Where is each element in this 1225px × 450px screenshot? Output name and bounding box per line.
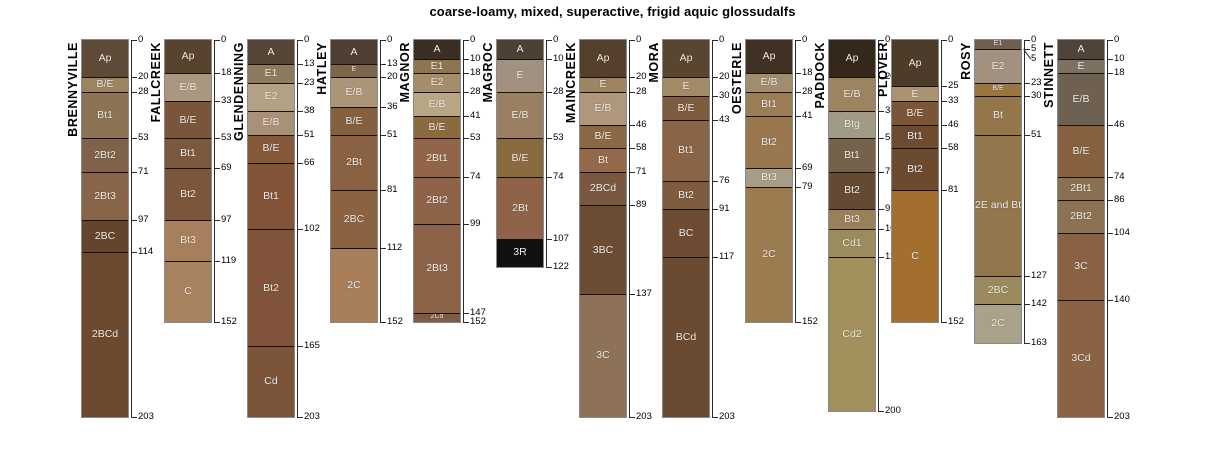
depth-tick-label: 203	[304, 412, 320, 421]
depth-tick-label: 114	[138, 247, 153, 256]
depth-tick-label: 23	[1031, 78, 1042, 87]
depth-tick	[297, 229, 303, 230]
soil-horizon: 2C	[331, 248, 377, 322]
soil-horizon: B/E	[892, 101, 938, 125]
horizon-label: Bt	[975, 109, 1021, 121]
depth-tick	[712, 417, 718, 418]
horizon-label: B/E	[892, 107, 938, 119]
depth-tick	[214, 322, 220, 323]
soil-horizon: E/B	[331, 77, 377, 107]
depth-tick	[941, 86, 947, 87]
horizon-label: B/E	[248, 142, 294, 154]
horizon-label: C	[165, 285, 211, 297]
depth-tick	[214, 101, 220, 102]
depth-tick	[1024, 83, 1030, 84]
depth-tick-label: 46	[1114, 120, 1125, 129]
soil-horizon: A	[1058, 40, 1104, 59]
horizon-boundary	[82, 92, 128, 93]
soil-horizon: Bt1	[746, 92, 792, 116]
depth-tick-label: 0	[138, 35, 143, 44]
depth-tick	[380, 190, 386, 191]
horizon-boundary	[414, 313, 460, 314]
depth-tick	[1024, 276, 1030, 277]
depth-tick	[629, 40, 635, 41]
depth-axis	[380, 40, 381, 322]
depth-tick	[795, 40, 801, 41]
horizon-boundary	[975, 83, 1021, 84]
horizon-boundary	[331, 64, 377, 65]
horizon-label: Ap	[580, 52, 626, 64]
depth-tick	[380, 322, 386, 323]
soil-horizon: 2Bt2	[414, 177, 460, 223]
depth-tick	[214, 168, 220, 169]
soil-horizon: 2Bt3	[414, 224, 460, 313]
horizon-boundary	[82, 77, 128, 78]
horizon-boundary	[414, 59, 460, 60]
depth-tick-label: 0	[304, 35, 309, 44]
horizon-label: Bt1	[829, 149, 875, 161]
depth-tick-label: 81	[387, 185, 398, 194]
depth-tick-label: 89	[636, 200, 647, 209]
horizon-boundary	[248, 346, 294, 347]
depth-tick-label: 33	[948, 96, 959, 105]
depth-tick-label: 10	[553, 54, 564, 63]
horizon-label: 3R	[497, 246, 543, 258]
horizon-label: A	[1058, 43, 1104, 55]
soil-horizon: Bt3	[165, 220, 211, 261]
horizon-label: 3BC	[580, 244, 626, 256]
horizon-label: 2BCd	[580, 182, 626, 194]
soil-horizon: 3C	[1058, 233, 1104, 300]
horizon-boundary	[829, 138, 875, 139]
horizon-label: B/E	[663, 102, 709, 114]
horizon-boundary	[248, 135, 294, 136]
horizon-label: 2BC	[82, 230, 128, 242]
depth-tick-label: 0	[802, 35, 807, 44]
depth-tick-label: 99	[470, 219, 481, 228]
horizon-boundary	[663, 77, 709, 78]
soil-horizon: B/E	[580, 125, 626, 147]
profile-name-label: MAGNOR	[398, 42, 412, 103]
horizon-label: Bt3	[165, 234, 211, 246]
depth-tick	[878, 209, 884, 210]
horizon-label: A	[497, 43, 543, 55]
depth-tick	[546, 59, 552, 60]
soil-horizon: Ap	[829, 40, 875, 77]
depth-tick-label: 152	[802, 317, 818, 326]
horizon-boundary	[829, 209, 875, 210]
depth-tick-label: 28	[636, 87, 647, 96]
depth-tick	[463, 138, 469, 139]
soil-horizon: C	[892, 190, 938, 322]
depth-tick-label: 20	[719, 72, 730, 81]
depth-tick-label: 30	[719, 91, 730, 100]
depth-axis	[795, 40, 796, 322]
soil-horizon: Btg	[829, 111, 875, 139]
soil-horizon: 2Bt1	[1058, 177, 1104, 199]
horizon-boundary	[248, 64, 294, 65]
depth-tick	[1107, 417, 1113, 418]
horizon-label: Cd	[248, 375, 294, 387]
soil-horizon: Bt3	[746, 168, 792, 187]
soil-horizon: Bt	[975, 96, 1021, 135]
depth-tick-label: 51	[1031, 130, 1042, 139]
depth-tick	[1107, 125, 1113, 126]
soil-horizon: E1	[248, 64, 294, 83]
horizon-label: E/B	[414, 98, 460, 110]
depth-tick-label: 41	[470, 111, 481, 120]
depth-tick	[463, 177, 469, 178]
horizon-boundary	[414, 92, 460, 93]
horizon-boundary	[580, 205, 626, 206]
horizon-boundary	[580, 294, 626, 295]
depth-tick	[941, 40, 947, 41]
depth-tick-label: 71	[138, 167, 149, 176]
depth-tick	[1107, 200, 1113, 201]
horizon-boundary	[248, 83, 294, 84]
soil-horizon: 2Bt	[331, 135, 377, 191]
depth-tick-label: 0	[948, 35, 953, 44]
depth-tick-label: 71	[636, 167, 647, 176]
horizon-label: Bt1	[165, 147, 211, 159]
soil-horizon: 2C	[746, 187, 792, 323]
horizon-label: 2Bt2	[414, 194, 460, 206]
depth-tick	[297, 346, 303, 347]
soil-horizon: 2C	[975, 304, 1021, 343]
horizon-label: B/E	[975, 85, 1021, 92]
soil-horizon: E	[580, 77, 626, 92]
depth-tick	[297, 111, 303, 112]
horizon-boundary	[331, 77, 377, 78]
horizon-boundary	[746, 168, 792, 169]
depth-tick	[629, 148, 635, 149]
horizon-boundary	[82, 138, 128, 139]
depth-tick-label: 81	[948, 185, 959, 194]
horizon-boundary	[892, 190, 938, 191]
horizon-boundary	[82, 252, 128, 253]
depth-tick	[380, 248, 386, 249]
depth-tick-label: 43	[719, 115, 730, 124]
horizon-boundary	[1058, 300, 1104, 301]
depth-tick-label: 0	[553, 35, 558, 44]
depth-tick	[131, 417, 137, 418]
horizon-label: E/B	[165, 81, 211, 93]
horizon-boundary	[414, 177, 460, 178]
depth-tick-label: 122	[553, 262, 569, 271]
depth-tick-label: 104	[1114, 228, 1130, 237]
depth-tick-label: 203	[1114, 412, 1130, 421]
depth-tick-label: 53	[553, 133, 564, 142]
soil-horizon: 2BCd	[82, 252, 128, 417]
horizon-boundary	[580, 125, 626, 126]
depth-tick-label: 20	[636, 72, 647, 81]
horizon-boundary	[165, 138, 211, 139]
depth-tick	[629, 125, 635, 126]
profile-name-label: PADDOCK	[813, 42, 827, 108]
horizon-label: E/B	[580, 102, 626, 114]
horizon-label: 2Bt2	[1058, 210, 1104, 222]
horizon-boundary	[165, 168, 211, 169]
depth-tick	[380, 64, 386, 65]
horizon-boundary	[829, 111, 875, 112]
horizon-label: Cd2	[829, 328, 875, 340]
depth-tick-label: 0	[636, 35, 641, 44]
depth-axis	[546, 40, 547, 267]
horizon-boundary	[663, 257, 709, 258]
horizon-boundary	[829, 229, 875, 230]
depth-tick	[131, 92, 137, 93]
depth-tick-label: 18	[1114, 68, 1125, 77]
depth-tick-label: 28	[802, 87, 813, 96]
depth-tick-label: 117	[719, 252, 734, 261]
horizon-label: 2Bt3	[82, 190, 128, 202]
soil-horizon: E/B	[414, 92, 460, 116]
depth-tick	[941, 190, 947, 191]
depth-axis	[131, 40, 132, 417]
depth-tick-label: 28	[553, 87, 564, 96]
profile-name-label: HATLEY	[315, 42, 329, 95]
soil-horizon: Ap	[82, 40, 128, 77]
horizon-boundary	[331, 248, 377, 249]
horizon-label: E/B	[746, 76, 792, 88]
horizon-label: Bt2	[248, 282, 294, 294]
soil-horizon: 2Bt1	[414, 138, 460, 177]
soil-horizon: E2	[414, 73, 460, 92]
soil-horizon: E	[331, 64, 377, 77]
horizon-label: E	[1058, 60, 1104, 72]
soil-horizon: E	[1058, 59, 1104, 74]
soil-horizon: A	[331, 40, 377, 64]
horizon-boundary	[1058, 59, 1104, 60]
horizon-label: Ap	[892, 57, 938, 69]
depth-tick-label: 58	[948, 143, 959, 152]
horizon-boundary	[82, 172, 128, 173]
depth-tick	[712, 257, 718, 258]
depth-tick	[1024, 343, 1030, 344]
depth-tick	[546, 92, 552, 93]
depth-tick-label: 152	[470, 317, 486, 326]
horizon-label: Bt1	[82, 109, 128, 121]
depth-tick-label: 97	[221, 215, 232, 224]
horizon-label: E2	[975, 60, 1021, 72]
soil-horizon: E/B	[1058, 73, 1104, 125]
horizon-label: Bt1	[248, 190, 294, 202]
depth-tick-label: 23	[304, 78, 315, 87]
soil-horizon: 3C	[580, 294, 626, 417]
depth-tick	[297, 64, 303, 65]
horizon-label: A	[248, 46, 294, 58]
depth-tick-label: 10	[470, 54, 481, 63]
profile-column: E1E2B/EBt2E and Bt2BC2C	[974, 39, 1022, 344]
soil-horizon: Cd	[248, 346, 294, 417]
depth-tick	[941, 148, 947, 149]
horizon-label: B/E	[497, 152, 543, 164]
depth-tick-label: 152	[221, 317, 237, 326]
depth-tick-label: 53	[138, 133, 149, 142]
horizon-boundary	[975, 276, 1021, 277]
depth-tick-label: 97	[138, 215, 149, 224]
depth-tick	[463, 92, 469, 93]
soil-horizon: B/E	[414, 116, 460, 138]
depth-tick-label: 107	[553, 234, 569, 243]
depth-tick	[463, 40, 469, 41]
horizon-boundary	[663, 181, 709, 182]
depth-tick	[380, 77, 386, 78]
horizon-boundary	[331, 107, 377, 108]
horizon-label: Bt2	[165, 188, 211, 200]
soil-horizon: 2E and Bt	[975, 135, 1021, 276]
horizon-boundary	[165, 73, 211, 74]
horizon-boundary	[746, 92, 792, 93]
horizon-label: A	[331, 46, 377, 58]
depth-tick-label: 163	[1031, 338, 1047, 347]
depth-tick-label: 76	[719, 176, 730, 185]
depth-tick-label: 127	[1031, 271, 1047, 280]
depth-tick-label: 0	[1114, 35, 1119, 44]
soil-horizon: Bt1	[82, 92, 128, 138]
profile-name-label: BRENNYVILLE	[66, 42, 80, 137]
horizon-label: Bt2	[829, 184, 875, 196]
horizon-boundary	[892, 101, 938, 102]
depth-axis	[629, 40, 630, 417]
depth-tick	[629, 205, 635, 206]
depth-tick	[131, 40, 137, 41]
depth-tick	[214, 138, 220, 139]
horizon-boundary	[497, 177, 543, 178]
horizon-boundary	[663, 120, 709, 121]
horizon-label: Bt1	[663, 144, 709, 156]
soil-horizon: Bt1	[829, 138, 875, 171]
profile-name-label: MORA	[647, 42, 661, 83]
horizon-boundary	[975, 49, 1021, 50]
depth-tick	[131, 172, 137, 173]
depth-tick-label: 69	[221, 163, 232, 172]
horizon-boundary	[248, 163, 294, 164]
depth-tick	[1107, 73, 1113, 74]
depth-tick	[878, 111, 884, 112]
horizon-boundary	[165, 261, 211, 262]
depth-tick	[297, 163, 303, 164]
horizon-boundary	[414, 73, 460, 74]
soil-horizon: B/E	[248, 135, 294, 163]
depth-tick-label: 203	[138, 412, 154, 421]
horizon-label: B/E	[1058, 145, 1104, 157]
depth-tick-label: 200	[885, 406, 901, 415]
depth-tick	[878, 40, 884, 41]
depth-tick-label: 20	[387, 72, 398, 81]
horizon-label: 2Bt3	[414, 262, 460, 274]
horizon-label: E/B	[497, 109, 543, 121]
soil-horizon: Bt2	[746, 116, 792, 168]
depth-tick	[214, 40, 220, 41]
horizon-label: B/E	[331, 115, 377, 127]
depth-tick-label: 142	[1031, 299, 1047, 308]
depth-tick	[1024, 40, 1030, 41]
depth-tick-label: 46	[948, 120, 959, 129]
depth-tick-label: 203	[636, 412, 652, 421]
depth-tick-label: 5	[1031, 44, 1036, 53]
depth-tick	[878, 229, 884, 230]
depth-tick	[712, 181, 718, 182]
horizon-label: C	[892, 250, 938, 262]
horizon-boundary	[1058, 233, 1104, 234]
depth-tick	[941, 101, 947, 102]
depth-tick	[795, 116, 801, 117]
soil-horizon: E/B	[165, 73, 211, 101]
depth-tick-label: 18	[470, 68, 481, 77]
horizon-label: Ap	[829, 52, 875, 64]
depth-tick	[878, 172, 884, 173]
horizon-boundary	[1058, 177, 1104, 178]
soil-horizon: E	[892, 86, 938, 101]
depth-tick	[1024, 135, 1030, 136]
soil-horizon: B/E	[975, 83, 1021, 96]
soil-horizon: 2BC	[975, 276, 1021, 304]
depth-tick-label: 53	[470, 133, 481, 142]
soil-horizon: A	[248, 40, 294, 64]
soil-horizon: Ap	[746, 40, 792, 73]
depth-tick	[463, 59, 469, 60]
horizon-boundary	[331, 135, 377, 136]
horizon-boundary	[580, 172, 626, 173]
depth-tick-label: 25	[948, 81, 959, 90]
soil-horizon: Bt1	[892, 125, 938, 147]
profile-name-label: GLENDENNING	[232, 42, 246, 141]
horizon-label: E	[663, 80, 709, 92]
depth-tick-label: 5	[1031, 54, 1036, 63]
horizon-label: 2BC	[975, 284, 1021, 296]
soil-horizon: Bt2	[892, 148, 938, 191]
depth-tick	[712, 209, 718, 210]
horizon-boundary	[497, 239, 543, 240]
soil-horizon: 3R	[497, 239, 543, 267]
soil-horizon: Bt3	[829, 209, 875, 229]
soil-horizon: E2	[975, 49, 1021, 82]
depth-tick-label: 79	[802, 182, 813, 191]
horizon-label: E	[892, 88, 938, 100]
horizon-label: Ap	[82, 52, 128, 64]
soil-horizon: B/E	[1058, 125, 1104, 177]
horizon-label: 2BCd	[82, 328, 128, 340]
depth-tick-label: 69	[802, 163, 813, 172]
depth-tick	[463, 322, 469, 323]
depth-tick-label: 152	[948, 317, 964, 326]
horizon-boundary	[497, 59, 543, 60]
depth-tick-label: 102	[304, 224, 320, 233]
soil-horizon: Bt2	[165, 168, 211, 220]
depth-tick	[1107, 177, 1113, 178]
profile-name-label: MAGROC	[481, 42, 495, 103]
depth-tick-label: 112	[387, 243, 402, 252]
depth-tick	[1107, 59, 1113, 60]
depth-tick	[1024, 96, 1030, 97]
depth-tick	[546, 239, 552, 240]
depth-tick	[214, 261, 220, 262]
horizon-label: E2	[248, 90, 294, 102]
depth-tick	[380, 40, 386, 41]
depth-tick	[297, 83, 303, 84]
horizon-boundary	[414, 224, 460, 225]
horizon-boundary	[497, 92, 543, 93]
depth-axis	[941, 40, 942, 322]
depth-tick-label: 33	[221, 96, 232, 105]
soil-horizon: Ap	[165, 40, 211, 73]
soil-horizon: E/B	[497, 92, 543, 138]
soil-horizon: 2BC	[331, 190, 377, 248]
depth-tick	[380, 107, 386, 108]
depth-tick	[629, 417, 635, 418]
depth-tick-label: 51	[304, 130, 315, 139]
